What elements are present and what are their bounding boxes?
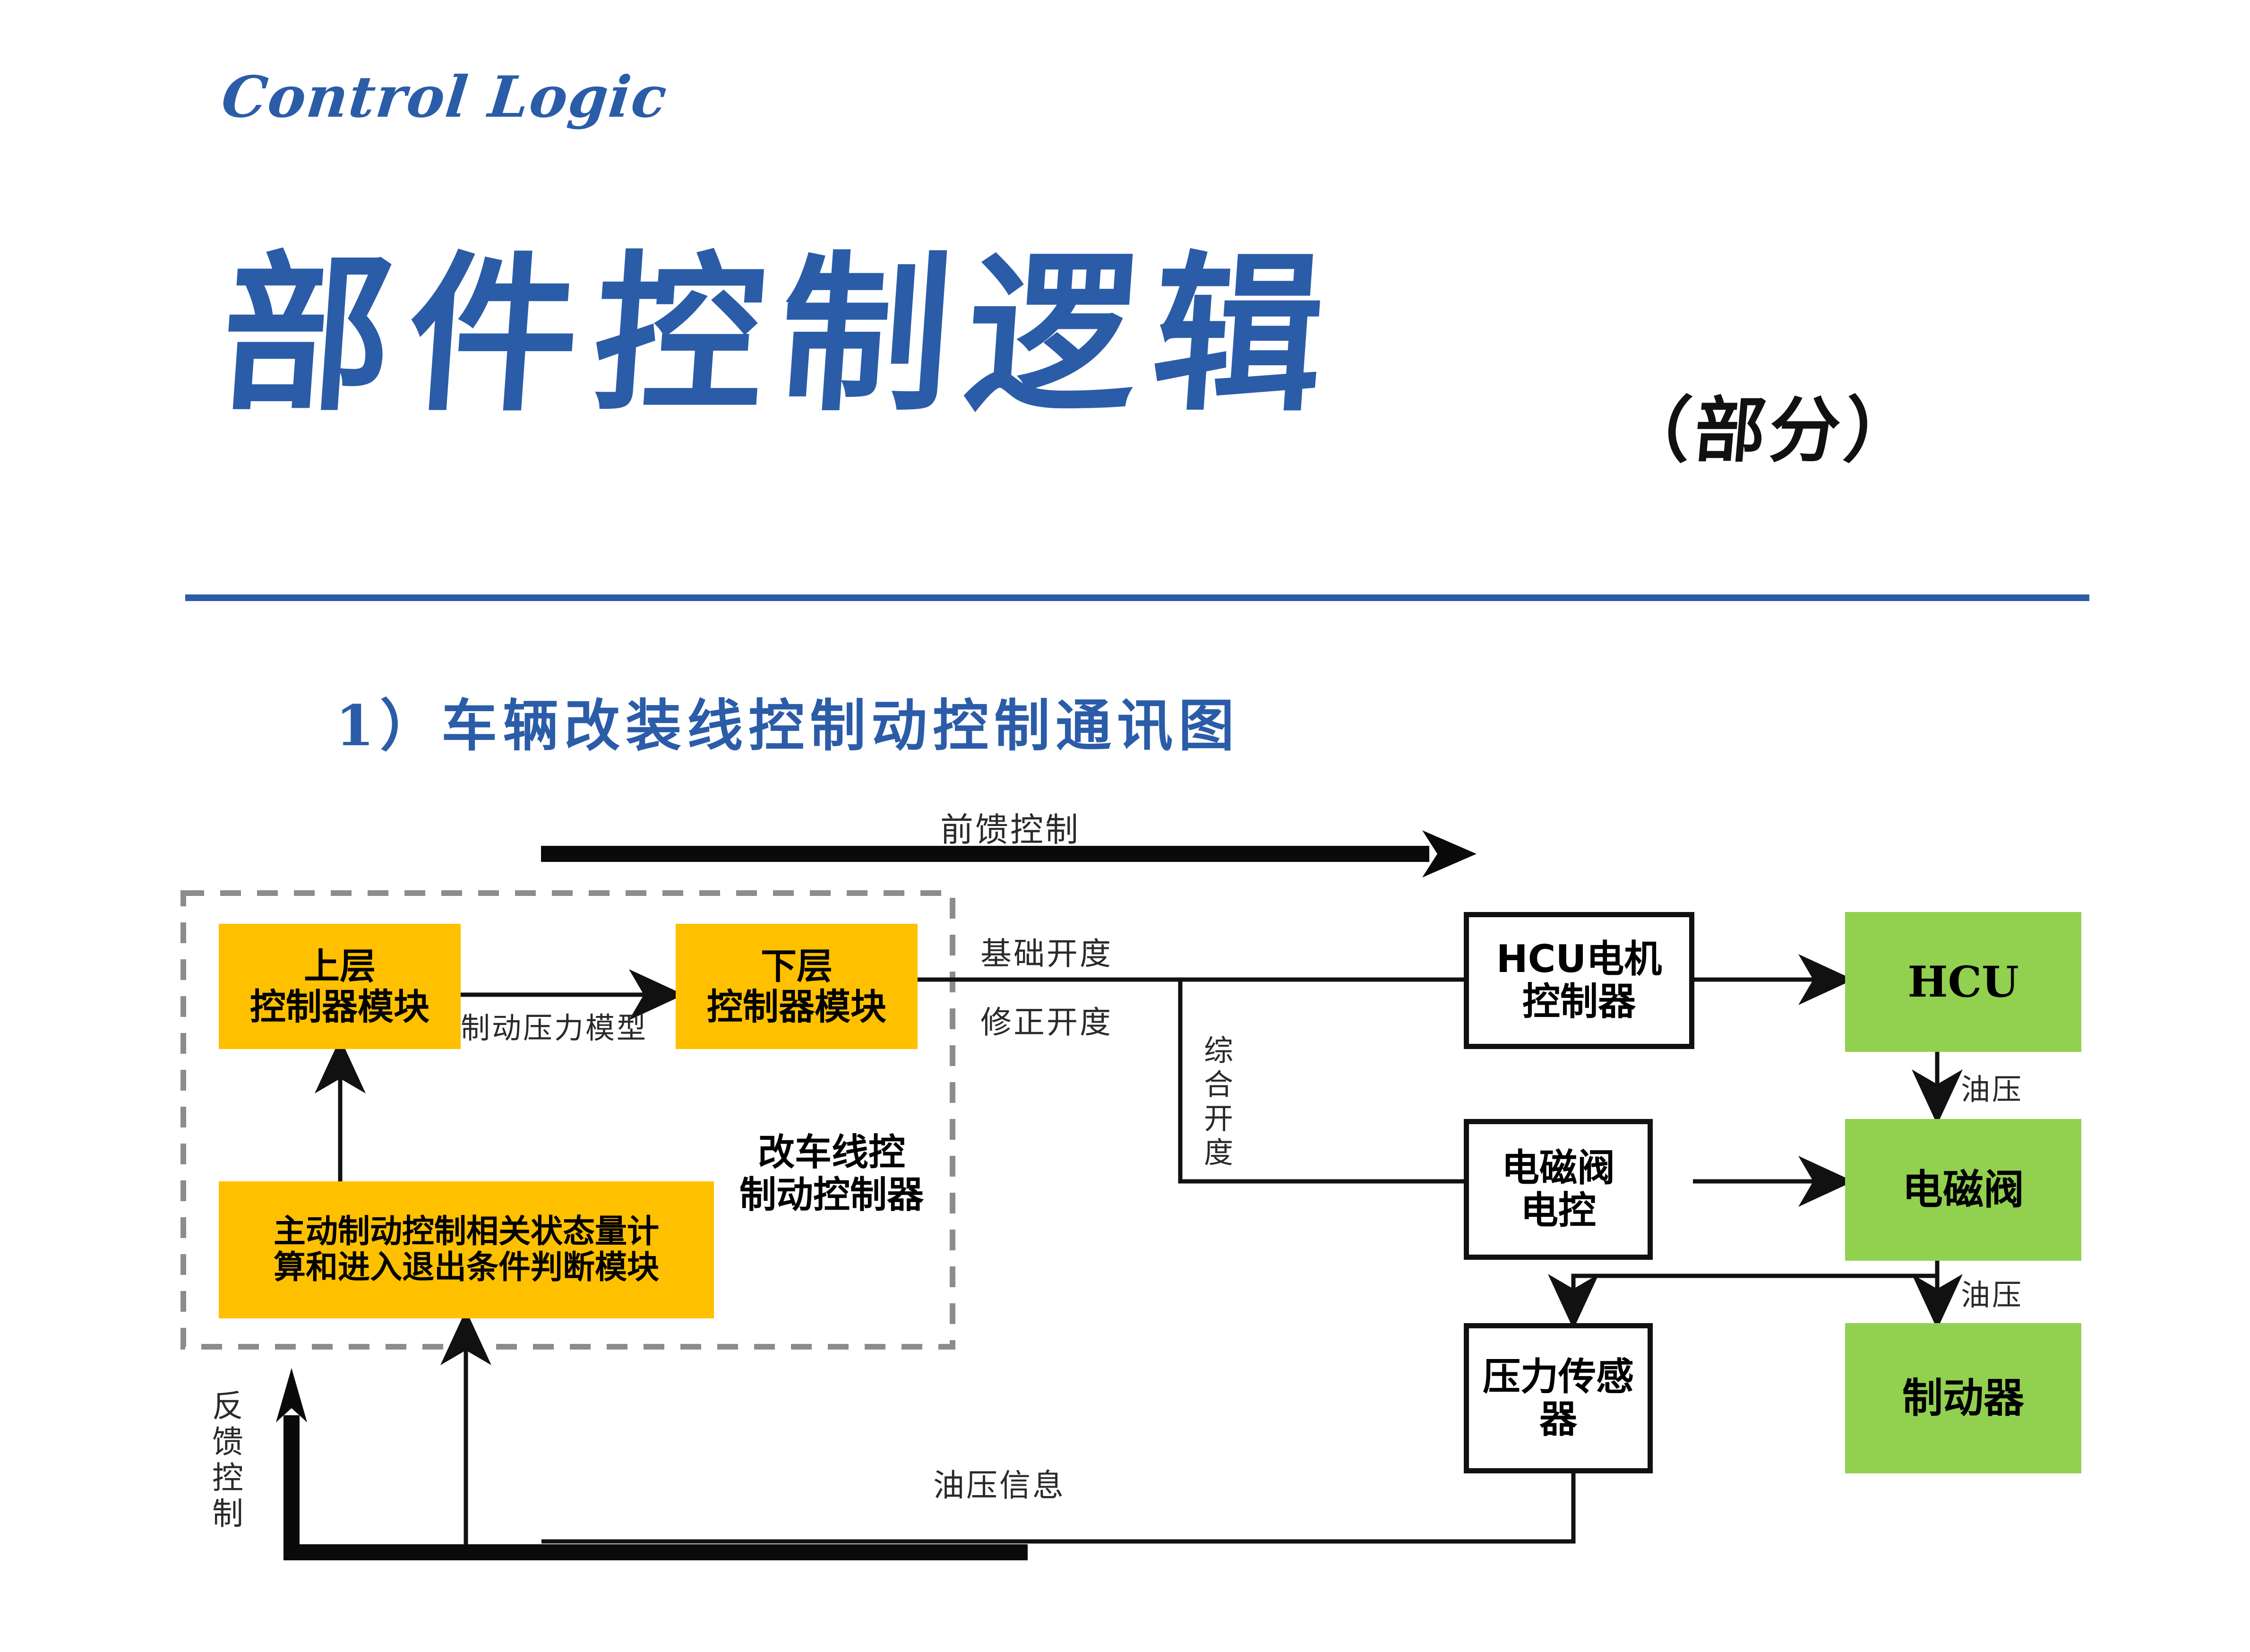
box-lower-controller[interactable]: 下层控制器模块 <box>676 924 918 1049</box>
label-base-opening: 基础开度 <box>980 929 1113 974</box>
feedback-arrow <box>276 1368 1028 1560</box>
controller-group-label: 改车线控制动控制器 <box>728 1132 936 1216</box>
box-brake[interactable]: 制动器 <box>1845 1323 2081 1473</box>
label-combined-opening: 综合开度 <box>1194 1035 1237 1191</box>
box-hcu[interactable]: HCU <box>1845 912 2081 1052</box>
edge-valve-to-pressure-sensor <box>1573 1276 1937 1321</box>
label-feedforward: 前馈控制 <box>940 803 1080 851</box>
label-correction-opening: 修正开度 <box>980 997 1113 1042</box>
label-hydraulic-pressure-valve: 油压 <box>1961 1271 2023 1314</box>
control-flow-diagram: 上层控制器模块 下层控制器模块 主动制动控制相关状态量计算和进入退出条件判断模块… <box>0 0 2250 1652</box>
box-state-calculation-module[interactable]: 主动制动控制相关状态量计算和进入退出条件判断模块 <box>219 1181 714 1318</box>
label-brake-pressure-model: 制动压力模型 <box>461 1004 648 1047</box>
box-upper-controller[interactable]: 上层控制器模块 <box>219 924 461 1049</box>
box-solenoid-ecu[interactable]: 电磁阀电控 <box>1464 1119 1653 1260</box>
box-pressure-sensor[interactable]: 压力传感器 <box>1464 1323 1653 1473</box>
label-hydraulic-pressure-hcu: 油压 <box>1961 1066 2023 1108</box>
slide-root: Control Logic 部件控制逻辑 （部分） 1）车辆改装线控制动控制通讯… <box>0 0 2250 1652</box>
box-solenoid-valve[interactable]: 电磁阀 <box>1845 1119 2081 1261</box>
box-hcu-motor-controller[interactable]: HCU电机控制器 <box>1464 912 1694 1049</box>
label-feedback: 反馈控制 <box>202 1389 248 1540</box>
label-hydraulic-info: 油压信息 <box>933 1460 1065 1506</box>
